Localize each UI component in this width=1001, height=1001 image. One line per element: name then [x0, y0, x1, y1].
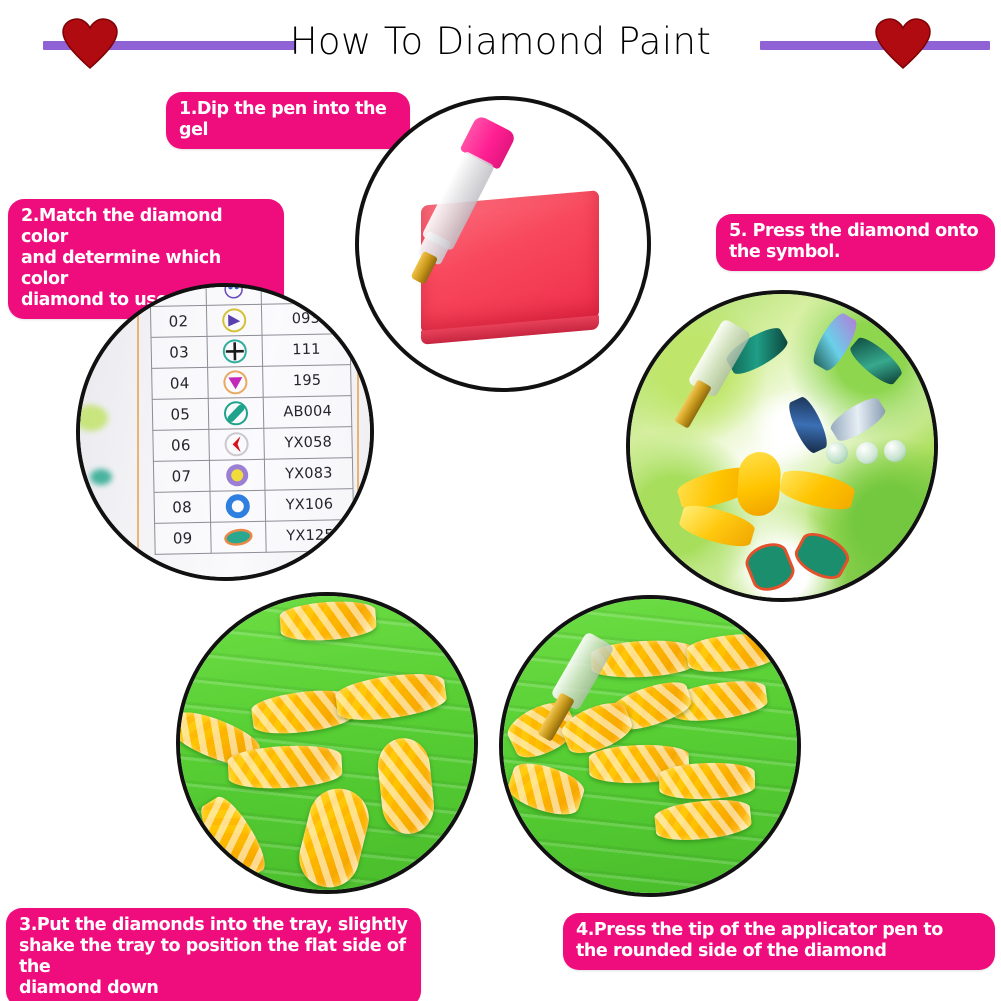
page-title: How To Diamond Paint	[0, 19, 1001, 65]
step-1-photo	[355, 96, 651, 392]
gem-round-ab-2	[856, 442, 878, 464]
canvas-color-blob-teal	[90, 469, 112, 485]
scene-pen-pressing-diamond	[503, 599, 797, 893]
step-4-label: 4.Press the tip of the applicator pen to…	[563, 913, 995, 970]
scene-symbol-chart: 028 02 093 03 111	[80, 287, 370, 577]
scene-diamond-onto-symbol	[630, 294, 934, 598]
chart-margin-line-inner	[137, 287, 139, 577]
step-2-photo: 028 02 093 03 111	[76, 283, 374, 581]
cell-symbol-triangle-in-circle	[206, 304, 262, 336]
cell-symbol-arrow-left-in-circle	[208, 428, 264, 460]
cell-code: 03	[151, 336, 207, 368]
step-5-label: 5. Press the diamond onto the symbol.	[716, 214, 995, 271]
cell-symbol-triangle-magenta-in-circle	[207, 366, 263, 398]
cell-code	[150, 283, 206, 306]
cell-name: 028	[261, 283, 349, 304]
table-row: 05 AB004	[152, 396, 352, 431]
gem-round-ab-3	[884, 440, 906, 462]
table-row: 09 YX125	[155, 520, 355, 555]
infographic-page: How To Diamond Paint 1.Dip the pen into …	[0, 0, 1001, 1001]
cell-name: YX083	[265, 458, 353, 491]
table-row: 02 093	[150, 303, 350, 338]
cell-symbol-blue-ring	[210, 490, 266, 522]
chart-margin-line-outer	[357, 287, 359, 577]
cell-symbol-plus-in-circle	[207, 335, 263, 367]
diamond-symbol-table: 028 02 093 03 111	[149, 283, 354, 555]
step-3-photo	[176, 592, 478, 894]
table-row: 08 YX106	[154, 489, 354, 524]
cell-symbol-leaf-teal	[210, 521, 266, 553]
cell-code: 04	[152, 367, 208, 399]
table-row: 04 195	[152, 365, 352, 400]
cell-name: YX058	[264, 427, 352, 460]
cell-code: 08	[154, 491, 210, 523]
scene-diamonds-in-tray	[180, 596, 474, 890]
cell-name: YX125	[266, 520, 354, 553]
gem-round-ab-1	[826, 442, 848, 464]
cell-name: YX106	[265, 489, 353, 522]
diamond-gem	[658, 761, 755, 800]
cell-code: 02	[150, 305, 206, 337]
cell-name: AB004	[264, 396, 352, 429]
step-3-label: 3.Put the diamonds into the tray, slight…	[6, 908, 421, 1001]
step-4-photo	[499, 595, 801, 897]
pen-tip	[410, 251, 438, 285]
table-row: 07 YX083	[153, 458, 353, 493]
cell-code: 09	[155, 522, 211, 554]
scene-pen-dipping-gel	[359, 100, 647, 388]
cell-symbol-slash-in-circle	[208, 397, 264, 429]
cell-name: 111	[262, 334, 350, 367]
cell-name: 195	[263, 365, 351, 398]
table-row: 03 111	[151, 334, 351, 369]
cell-symbol-circle-double-dot	[205, 283, 261, 305]
cell-symbol-dot-in-ring	[209, 459, 265, 491]
table-row: 06 YX058	[153, 427, 353, 462]
cell-code: 07	[153, 460, 209, 492]
page-header: How To Diamond Paint	[0, 0, 1001, 86]
cell-code: 06	[153, 429, 209, 461]
cell-code: 05	[152, 398, 208, 430]
step-5-photo	[626, 290, 938, 602]
cell-name: 093	[262, 303, 350, 336]
